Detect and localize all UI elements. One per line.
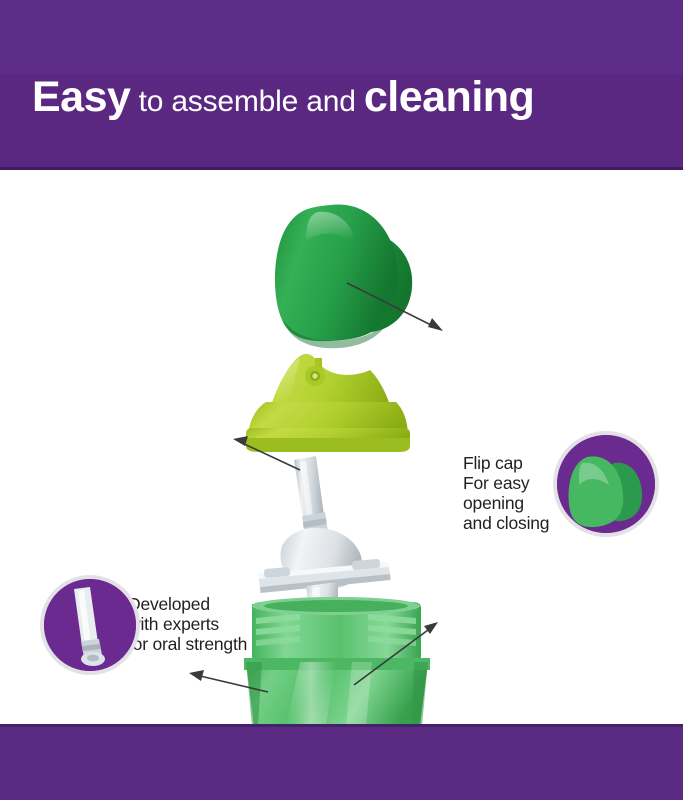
header-band-upper bbox=[0, 0, 683, 74]
bottle-neck bbox=[252, 597, 421, 662]
spout-lid-part bbox=[246, 354, 410, 452]
bottle-part bbox=[244, 597, 430, 724]
page-header: Easy to assemble and cleaning bbox=[0, 0, 683, 170]
badge-flip-cap bbox=[557, 435, 655, 533]
page-footer bbox=[0, 724, 683, 800]
straw-closeup-icon bbox=[44, 579, 136, 671]
callout-flip-cap-text: Flip cap For easy opening and closing bbox=[463, 453, 549, 533]
title-middle-phrase: to assemble and bbox=[130, 85, 363, 118]
callout-oral-strength-text: Developed with experts for oral strength bbox=[128, 594, 247, 654]
infographic-page: Easy to assemble and cleaning bbox=[0, 0, 683, 800]
badge-oral-strength bbox=[44, 579, 136, 671]
title-word-cleaning: cleaning bbox=[364, 73, 534, 121]
arrowhead-flip-cap bbox=[428, 318, 443, 331]
title-word-easy: Easy bbox=[32, 73, 130, 121]
footer-top-rule bbox=[0, 724, 683, 727]
product-stage: Flip cap For easy opening and closing De… bbox=[0, 170, 683, 724]
flip-cap-part bbox=[275, 204, 412, 348]
flip-cap-closeup-icon bbox=[557, 435, 655, 533]
page-title: Easy to assemble and cleaning bbox=[32, 76, 534, 119]
arrowhead-easy-hold bbox=[189, 670, 204, 681]
